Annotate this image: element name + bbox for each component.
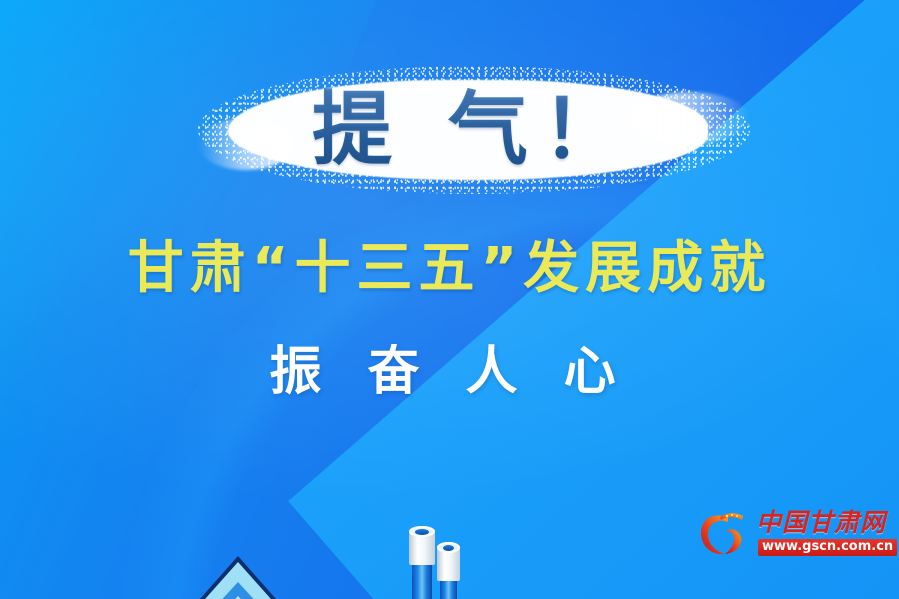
short-tube-bore — [443, 545, 454, 551]
short-tube — [440, 547, 457, 599]
headline-line-3: 振 奋 人 心 — [0, 344, 899, 401]
roof-shape — [176, 556, 300, 599]
headline-line-2: 甘肃“十三五”发展成就 — [0, 238, 899, 300]
logo-site-name: 中国甘肃网 — [756, 510, 886, 535]
logo-site-url: www.gscn.com.cn — [758, 539, 897, 556]
poster-canvas: 提 气！ 甘肃“十三五”发展成就 振 奋 人 心 — [0, 0, 899, 599]
logo-text-group: 中国甘肃网 www.gscn.com.cn — [756, 509, 884, 559]
site-logo: 中国甘肃网 www.gscn.com.cn — [698, 506, 884, 562]
tall-tube — [412, 531, 432, 599]
headline-line-1: 提 气！ — [198, 72, 750, 188]
tall-tube-bore — [415, 529, 429, 535]
gscn-swirl-icon — [698, 509, 752, 559]
